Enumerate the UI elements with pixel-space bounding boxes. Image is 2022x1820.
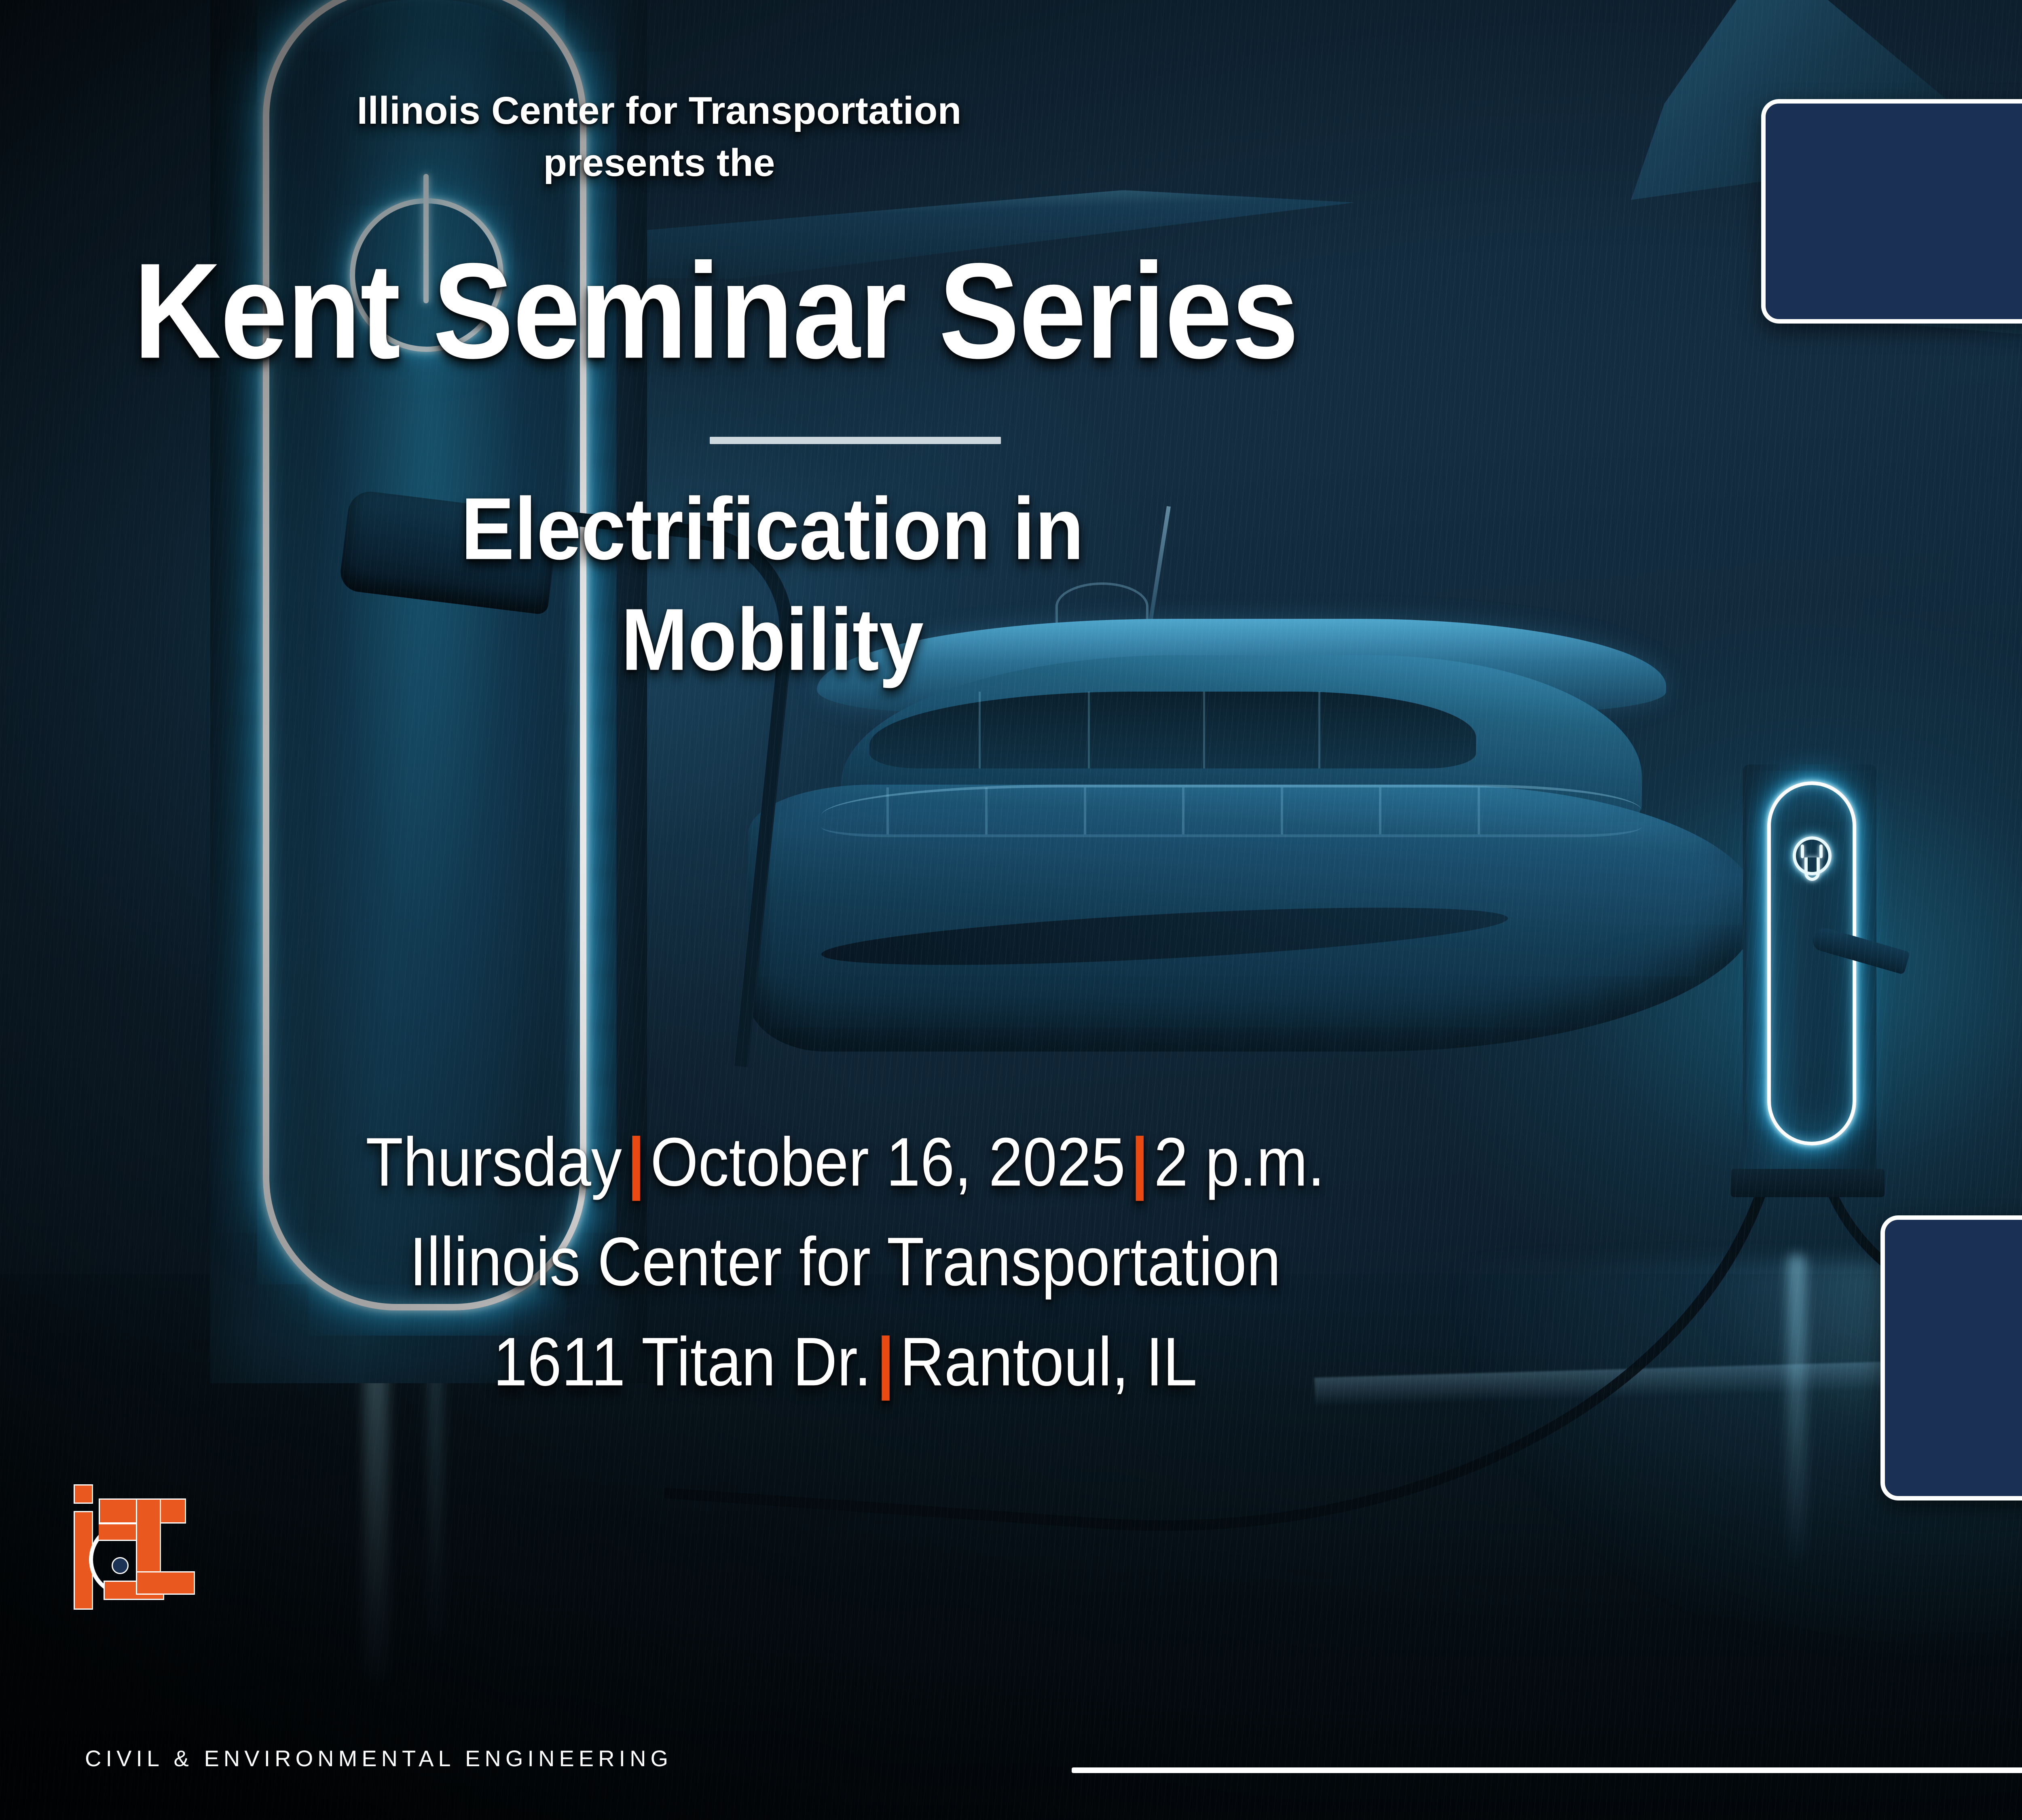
page-title: Kent Seminar Series — [133, 243, 1630, 379]
event-day: Thursday — [366, 1124, 622, 1200]
presenter-line-2: presents the — [154, 137, 1165, 189]
footer-divider — [1072, 1767, 2022, 1773]
ict-i-dot — [74, 1484, 93, 1504]
event-datetime-line: Thursday|October 16, 2025|2 p.m. — [137, 1112, 1553, 1212]
speaker-info-panel: Marta Gonzalez Associate Professor Unive… — [1880, 1215, 2022, 1500]
ict-logo — [65, 1484, 194, 1610]
seminar-poster: Illinois Center for Transportation prese… — [0, 0, 2022, 1820]
ict-center-dot — [112, 1557, 129, 1574]
talk-title-panel: Toward a science of cities: A complex sy… — [1761, 99, 2022, 324]
presenter-intro: Illinois Center for Transportation prese… — [154, 85, 1165, 189]
ict-t-foot — [136, 1571, 195, 1595]
topic-line-2: Mobility — [226, 584, 1318, 695]
event-date: October 16, 2025 — [650, 1124, 1125, 1200]
title-divider — [710, 437, 1001, 444]
topic-line-1: Electrification in — [226, 473, 1318, 584]
event-city: Rantoul, IL — [900, 1323, 1197, 1400]
separator: | — [622, 1124, 651, 1200]
separator: | — [871, 1323, 900, 1400]
event-street: 1611 Titan Dr. — [493, 1323, 871, 1400]
seminar-topic: Electrification in Mobility — [226, 473, 1318, 695]
ict-c-top — [99, 1523, 137, 1541]
footer-department: CIVIL & ENVIRONMENTAL ENGINEERING — [85, 1745, 673, 1771]
presenter-line-1: Illinois Center for Transportation — [154, 85, 1165, 137]
event-time: 2 p.m. — [1154, 1124, 1324, 1200]
event-address-line: 1611 Titan Dr.|Rantoul, IL — [137, 1312, 1553, 1412]
separator: | — [1125, 1124, 1154, 1200]
event-details: Thursday|October 16, 2025|2 p.m. Illinoi… — [137, 1112, 1553, 1412]
event-venue: Illinois Center for Transportation — [137, 1212, 1553, 1312]
